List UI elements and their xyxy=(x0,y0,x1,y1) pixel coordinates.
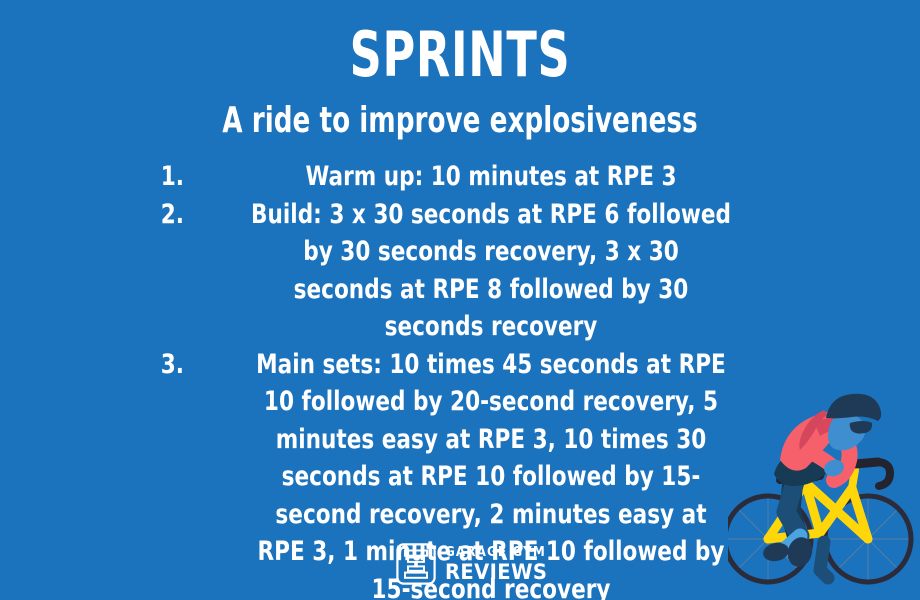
workout-poster: SPRINTS A ride to improve explosiveness … xyxy=(0,0,920,600)
page-subtitle: A ride to improve explosiveness xyxy=(124,101,796,141)
workout-steps-list: 1. Warm up: 10 minutes at RPE 3 2. Build… xyxy=(150,158,800,600)
list-item-text: Warm up: 10 minutes at RPE 3 xyxy=(250,158,732,196)
brand-wordmark: GARAGE GYM REVIEWS xyxy=(445,546,555,583)
list-item: 1. Warm up: 10 minutes at RPE 3 xyxy=(150,158,800,196)
list-item: 2. Build: 3 x 30 seconds at RPE 6 follow… xyxy=(150,196,800,346)
brand-logo: GARAGE GYM REVIEWS xyxy=(396,543,555,585)
list-item-text: Build: 3 x 30 seconds at RPE 6 followed … xyxy=(250,196,732,346)
list-item-number: 2. xyxy=(160,196,184,234)
list-item-number: 1. xyxy=(160,158,184,196)
page-title: SPRINTS xyxy=(129,22,791,88)
list-item-number: 3. xyxy=(160,346,184,384)
brand-name-line2: REVIEWS xyxy=(445,561,547,583)
brand-name-line1: GARAGE GYM xyxy=(445,546,546,560)
rider-second-leg xyxy=(820,542,828,578)
sunglasses-icon xyxy=(850,421,872,434)
cyclist-illustration xyxy=(728,392,918,592)
bench-press-icon xyxy=(396,543,436,585)
